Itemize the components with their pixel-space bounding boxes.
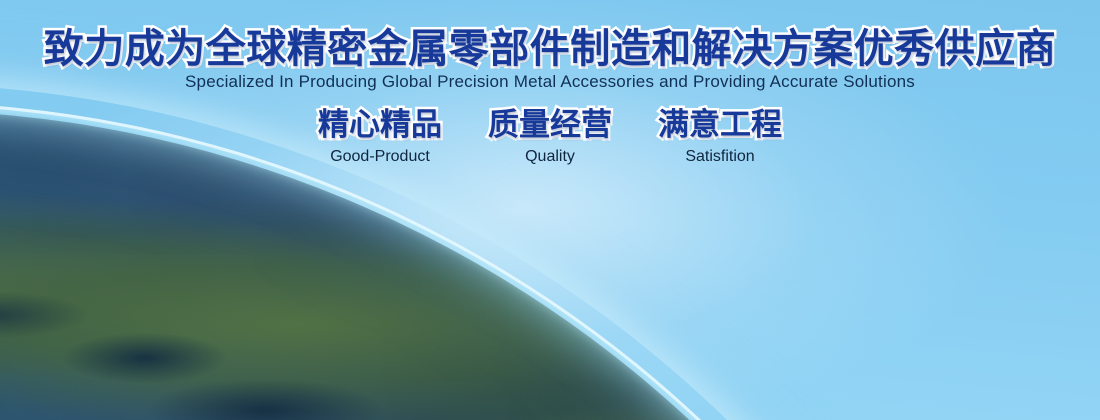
slogan-chinese: 质量经营: [480, 106, 620, 144]
slogan-chinese: 精心精品: [310, 106, 450, 144]
slogan-english: Quality: [480, 147, 620, 167]
hero-banner: 致力成为全球精密金属零部件制造和解决方案优秀供应商 Specialized In…: [0, 0, 1100, 420]
headline-chinese: 致力成为全球精密金属零部件制造和解决方案优秀供应商: [0, 26, 1100, 72]
slogan-english: Good-Product: [310, 147, 450, 167]
headline-english: Specialized In Producing Global Precisio…: [0, 70, 1100, 94]
slogan-row: 精心精品 Good-Product 质量经营 Quality 满意工程 Sati…: [0, 106, 1100, 167]
slogan-english: Satisfition: [650, 147, 790, 167]
banner-copy: 致力成为全球精密金属零部件制造和解决方案优秀供应商 Specialized In…: [0, 0, 1100, 420]
slogan-item-good-product: 精心精品 Good-Product: [310, 106, 450, 167]
slogan-item-quality: 质量经营 Quality: [480, 106, 620, 167]
slogan-item-satisfition: 满意工程 Satisfition: [650, 106, 790, 167]
slogan-chinese: 满意工程: [650, 106, 790, 144]
